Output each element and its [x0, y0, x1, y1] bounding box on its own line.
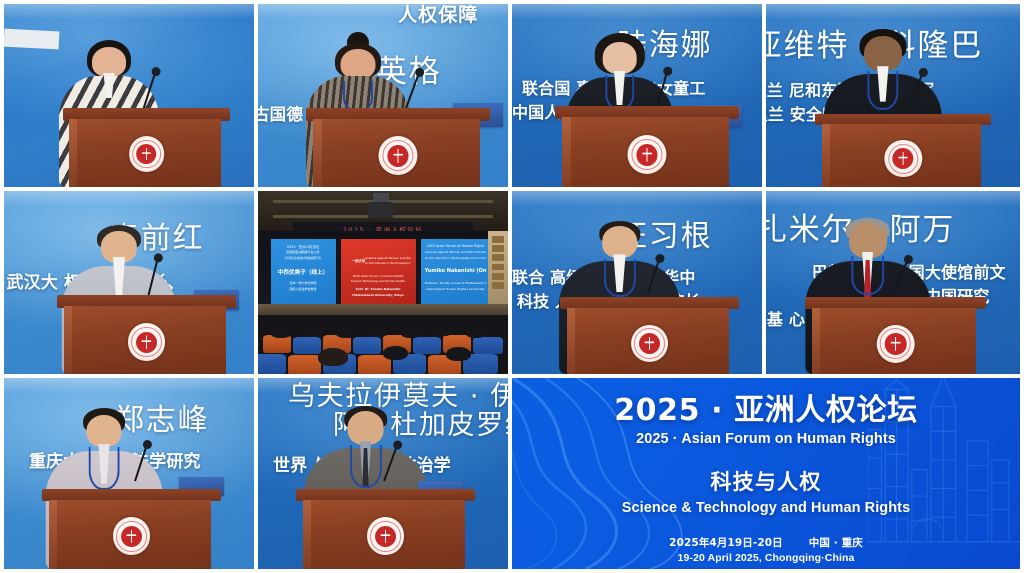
photo-scene: 乌夫拉伊莫夫 · 伊赫季 阿卜杜加皮罗维 世界 与外交大学政治学	[258, 378, 508, 569]
podium-emblem-icon	[627, 135, 666, 174]
speaker-photo-1[interactable]	[4, 4, 254, 187]
screen-right-line-1: 2025 Asian Forum on Human Rights	[425, 244, 487, 248]
head	[602, 226, 638, 257]
venue-scene: 2025 · 亚洲人权论坛 2025 · 亚洲人权论坛 欧盟和亚洲网络平台上的 …	[258, 191, 508, 374]
podium-emblem-icon	[113, 517, 151, 555]
audience-head	[271, 327, 291, 338]
lanyard	[343, 81, 373, 112]
screen-center-line-6: Prof. Dr. Yumiko Nakanishi	[345, 287, 411, 291]
seat	[258, 354, 286, 374]
podium-edge	[562, 117, 571, 187]
speaker-photo-qin-qianhong[interactable]: 秦前红 武汉大 权研究院院长、	[4, 191, 254, 374]
speech-papers-2	[4, 28, 59, 49]
photo-scene: 亚维特 · 科隆巴 里兰 尼和东盟大使，海军 斯里兰 安全所所长外交部常	[766, 4, 1020, 187]
podium-edge	[313, 119, 322, 187]
forum-title-en: 2025 · Asian Forum on Human Rights	[636, 431, 896, 447]
podium-emblem-icon	[367, 517, 405, 555]
photo-scene: 扎米尔 · 阿万 巴基斯坦驻中国大使馆前文 化参赞科技大学中国研究 巴基 心战略…	[766, 191, 1020, 374]
lanyard	[89, 447, 120, 490]
backdrop-highlight	[4, 4, 254, 19]
audience-head	[336, 328, 356, 339]
screen-left-line-4: 中西优美子（线上）	[274, 268, 331, 276]
seat	[353, 337, 381, 355]
podium-edge	[303, 500, 311, 569]
forum-date-en: 19-20 April 2025, Chongqing·China	[678, 552, 855, 564]
forum-theme-en: Science & Technology and Human Rights	[622, 500, 910, 516]
screen-center: 一桥大学 Violence against Women and Discrimi…	[341, 239, 416, 305]
speaker-photo-wu-yingge[interactable]: 人权保障 乌英格 古国德 外交与国 委	[258, 4, 508, 187]
forum-title-banner[interactable]: 2025 · 亚洲人权论坛 2025 · Asian Forum on Huma…	[512, 378, 1020, 569]
speaker-photo-yawite-kelongba[interactable]: 亚维特 · 科隆巴 里兰 尼和东盟大使，海军 斯里兰 安全所所长外交部常	[766, 4, 1020, 187]
podium-edge	[567, 308, 575, 374]
forum-theme-zh: 科技与人权	[710, 466, 821, 496]
photo-scene: 陆海娜 联合国 事会妇女与女童工 中国人 权研究 执行	[512, 4, 762, 187]
podium-edge	[69, 119, 77, 187]
backdrop-highlight	[512, 191, 762, 206]
screen-right-line-2: Violence against Women and Discriminatio…	[425, 250, 487, 254]
podium-emblem-icon	[631, 325, 669, 363]
podium	[562, 106, 732, 187]
speaker-photo-zheng-zhifeng[interactable]: 郑志峰 重庆大学科技法学研究	[4, 378, 254, 569]
podium	[303, 489, 468, 569]
forum-date-zh-row: 2025年4月19日-20日 中国 · 重庆	[669, 535, 863, 550]
screen-center-line-4: 2025 Asian Forum on Human Rights	[345, 274, 411, 278]
screen-center-line-5: Science Technology and Human Rights	[345, 279, 411, 283]
screen-left: 2025 · 亚洲人权论坛 欧盟和亚洲网络平台上的 针对妇女的暴力和歧视行为 中…	[271, 239, 336, 305]
audience-head	[383, 346, 408, 360]
podium-edge	[64, 306, 72, 374]
backdrop-highlight	[4, 191, 254, 206]
seat	[413, 337, 441, 355]
screen-left-line-6: 国际人权法学会教授	[274, 287, 331, 291]
podium	[313, 108, 483, 187]
screen-right: 2025 Asian Forum on Human Rights Violenc…	[421, 239, 491, 305]
backdrop-highlight	[766, 4, 1020, 19]
conference-hall-photo[interactable]: 2025 · 亚洲人权论坛 2025 · 亚洲人权论坛 欧盟和亚洲网络平台上的 …	[258, 191, 508, 374]
backdrop-highlight	[4, 378, 254, 393]
forum-title-zh: 2025 · 亚洲人权论坛	[614, 394, 918, 428]
head	[86, 415, 121, 448]
audience-head	[368, 326, 388, 337]
seat	[293, 337, 321, 355]
screen-right-line-5: Professor, Faculty of Law of Hitotsubash…	[425, 281, 487, 285]
podium	[567, 297, 732, 374]
lanyard	[867, 71, 898, 110]
podium-emblem-icon	[876, 325, 915, 364]
podium-edge	[49, 500, 57, 569]
audience-head	[433, 325, 453, 336]
projector-icon	[368, 202, 393, 218]
screen-left-line-5: 日本一桥大学法学院	[274, 281, 331, 285]
podium-edge	[812, 308, 820, 374]
seat	[288, 355, 321, 374]
wall-calligraphy-panel	[488, 231, 508, 308]
podium-emblem-icon	[128, 323, 166, 361]
forum-date-block: 2025年4月19日-20日 中国 · 重庆 19-20 April 2025,…	[669, 535, 863, 564]
lanyard	[603, 259, 635, 297]
speaker-photo-ufraimov[interactable]: 乌夫拉伊莫夫 · 伊赫季 阿卜杜加皮罗维 世界 与外交大学政治学	[258, 378, 508, 569]
photo-scene	[4, 4, 254, 187]
lanyard	[851, 256, 885, 295]
head	[341, 49, 376, 80]
speaker-photo-wang-xigen[interactable]: 汪习根 联合 高级咨询专家，华中 科技 人权法律研究院院长	[512, 191, 762, 374]
title-card: 2025 · 亚洲人权论坛 2025 · Asian Forum on Huma…	[512, 378, 1020, 569]
screen-left-line-3: 针对妇女的暴力和歧视行为	[274, 256, 331, 260]
forum-date-zh: 2025年4月19日-20日	[669, 535, 783, 550]
speaker-photo-zamier-awan[interactable]: 扎米尔 · 阿万 巴基斯坦驻中国大使馆前文 化参赞科技大学中国研究 巴基 心战略…	[766, 191, 1020, 374]
photo-collage: 人权保障 乌英格 古国德 外交与国 委	[0, 0, 1024, 573]
speaker-photo-lu-haina[interactable]: 陆海娜 联合国 事会妇女与女童工 中国人 权研究 执行	[512, 4, 762, 187]
seat	[263, 335, 291, 353]
audience-head	[318, 348, 348, 366]
led-top-partial: 人权保障	[398, 4, 479, 27]
podium	[69, 108, 224, 187]
audience-seating	[258, 315, 508, 374]
photo-scene: 人权保障 乌英格 古国德 外交与国 委	[258, 4, 508, 187]
audience-head	[303, 326, 323, 337]
head	[602, 42, 637, 73]
podium	[822, 114, 985, 187]
audience-head	[446, 347, 471, 361]
photo-scene: 汪习根 联合 高级咨询专家，华中 科技 人权法律研究院院长	[512, 191, 762, 374]
podium	[812, 297, 980, 374]
lanyard	[349, 445, 381, 489]
photo-scene: 郑志峰 重庆大学科技法学研究	[4, 378, 254, 569]
screen-center-line-2: Violence against Women and Discriminatio…	[365, 256, 412, 260]
screen-right-line-6: International Human Rights Law Society	[425, 287, 487, 291]
seat	[473, 337, 503, 355]
podium-emblem-icon	[129, 136, 165, 172]
head	[347, 411, 384, 445]
backdrop-highlight	[512, 4, 762, 19]
screen-right-line-3: on the Internet in the European Union an…	[425, 256, 487, 260]
photo-scene: 秦前红 武汉大 权研究院院长、	[4, 191, 254, 374]
audience-head	[401, 327, 421, 338]
forum-location-zh: 中国 · 重庆	[809, 535, 863, 550]
lanyard	[605, 75, 634, 110]
screen-left-line-1: 2025 · 亚洲人权论坛	[274, 244, 331, 249]
audience-head	[466, 327, 486, 338]
podium-edge	[822, 124, 830, 187]
podium	[49, 489, 214, 569]
screen-right-line-4: Yumiko Nakanishi (Online)	[425, 268, 487, 274]
screen-center-line-7: Hitotsubashi University, Tokyo	[345, 293, 411, 297]
podium-emblem-icon	[378, 136, 417, 175]
title-content: 2025 · 亚洲人权论坛 2025 · Asian Forum on Huma…	[512, 378, 1020, 569]
head	[864, 36, 902, 71]
screen-center-line-3: on the Internet in the European Union an…	[365, 261, 412, 265]
podium	[64, 295, 229, 374]
screen-left-line-2: 欧盟和亚洲网络平台上的	[274, 250, 331, 254]
